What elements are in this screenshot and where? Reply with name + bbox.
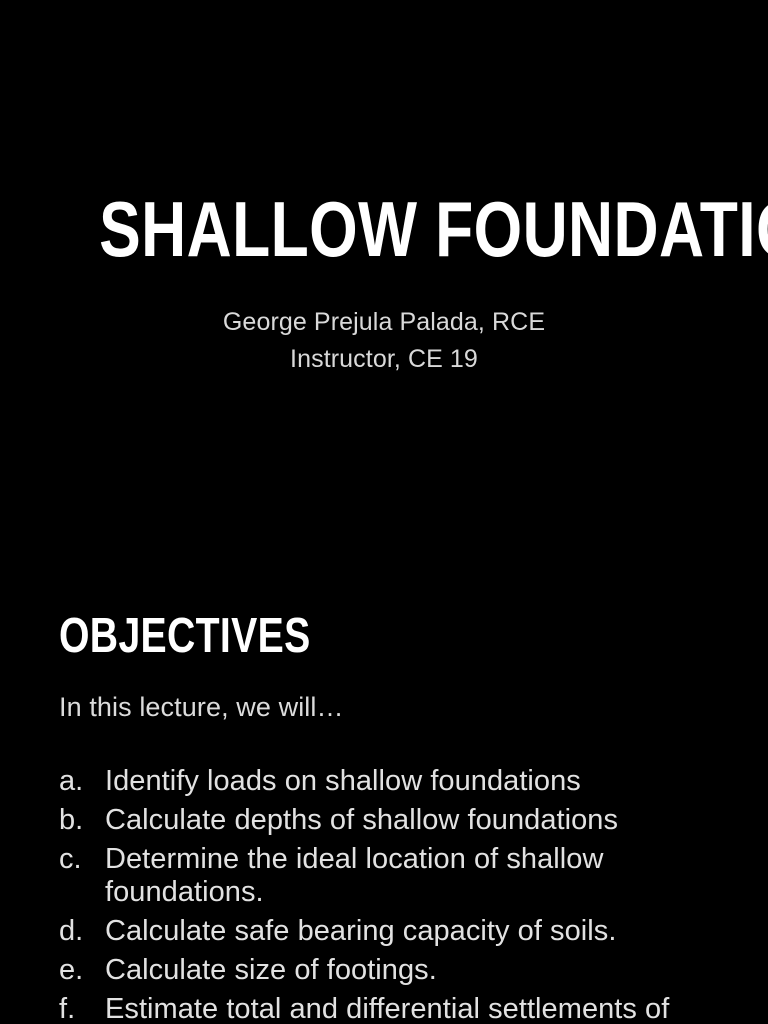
list-item-text: Calculate depths of shallow foundations — [105, 804, 680, 837]
objectives-heading: OBJECTIVES — [59, 612, 594, 661]
list-item-text: Identify loads on shallow foundations — [105, 765, 680, 798]
list-item: b. Calculate depths of shallow foundatio… — [59, 804, 728, 837]
list-item-text: Calculate size of footings. — [105, 954, 680, 987]
objectives-list: a. Identify loads on shallow foundations… — [59, 724, 728, 1024]
list-item: f. Estimate total and differential settl… — [59, 993, 728, 1024]
list-item-text: Determine the ideal location of shallow … — [105, 843, 680, 909]
presentation-slide: SHALLOW FOUNDATIONS George Prejula Palad… — [0, 0, 768, 1024]
list-item-marker: f. — [59, 993, 105, 1024]
list-item: a. Identify loads on shallow foundations — [59, 765, 728, 798]
list-item: e. Calculate size of footings. — [59, 954, 728, 987]
subtitle-block: George Prejula Palada, RCE Instructor, C… — [0, 304, 768, 378]
list-item: d. Calculate safe bearing capacity of so… — [59, 915, 728, 948]
list-item-text: Calculate safe bearing capacity of soils… — [105, 915, 680, 948]
list-item-marker: c. — [59, 843, 105, 876]
page-title: SHALLOW FOUNDATIONS — [99, 196, 768, 263]
list-item-marker: a. — [59, 765, 105, 798]
list-item-text: Estimate total and differential settleme… — [105, 993, 680, 1024]
list-item-marker: d. — [59, 915, 105, 948]
author-name: George Prejula Palada, RCE — [0, 304, 768, 341]
list-item: c. Determine the ideal location of shall… — [59, 843, 728, 909]
objectives-section: OBJECTIVES In this lecture, we will… a. … — [59, 612, 728, 1024]
list-item-marker: b. — [59, 804, 105, 837]
title-block: SHALLOW FOUNDATIONS — [0, 196, 768, 263]
author-role: Instructor, CE 19 — [0, 341, 768, 378]
list-item-marker: e. — [59, 954, 105, 987]
objectives-intro: In this lecture, we will… — [59, 661, 728, 724]
